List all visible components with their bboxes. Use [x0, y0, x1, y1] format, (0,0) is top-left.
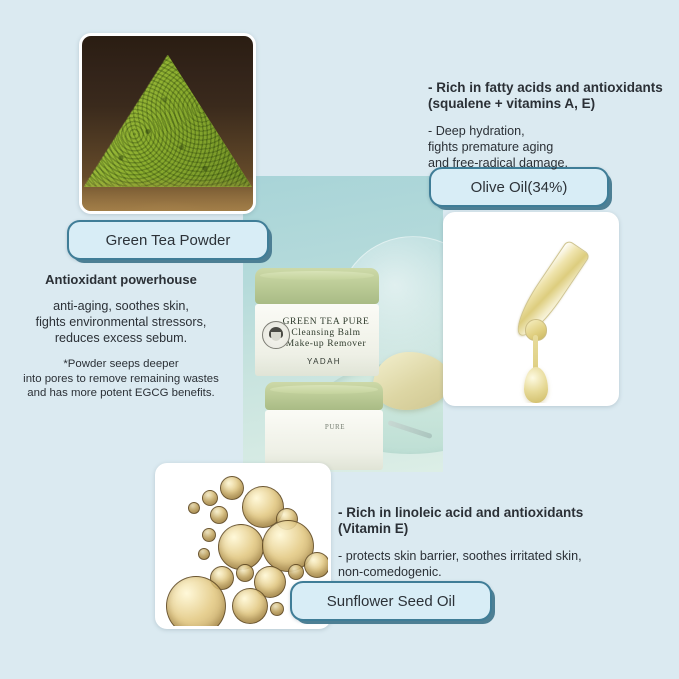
pill-sunflower-seed-oil[interactable]: Sunflower Seed Oil — [290, 581, 492, 621]
jar-lid — [265, 382, 383, 410]
jar-lid — [255, 268, 379, 304]
green-tea-note: *Powder seeps deeper into pores to remov… — [14, 357, 228, 400]
balm-scoop-shape — [373, 352, 443, 410]
jar-label: GREEN TEA PURE Cleansing Balm Make-up Re… — [255, 317, 379, 366]
pill-label: Green Tea Powder — [106, 232, 231, 249]
olive-oil-body: - Deep hydration, fights premature aging… — [428, 124, 676, 172]
pill-label: Sunflower Seed Oil — [327, 593, 455, 610]
pill-green-tea-powder[interactable]: Green Tea Powder — [67, 220, 269, 260]
product-jar-bottom: PURE — [265, 382, 383, 470]
infographic-canvas: GREEN TEA PURE Cleansing Balm Make-up Re… — [0, 0, 679, 679]
sunflower-oil-text-block: - Rich in linoleic acid and antioxidants… — [338, 505, 618, 581]
jar-title: PURE — [265, 423, 383, 431]
pill-label: Olive Oil(34%) — [471, 179, 568, 196]
olive-oil-heading: - Rich in fatty acids and antioxidants (… — [428, 80, 676, 113]
brand-emblem-icon — [262, 321, 290, 349]
jar-label: PURE — [265, 423, 383, 431]
pill-olive-oil[interactable]: Olive Oil(34%) — [429, 167, 609, 207]
jar-brand: YADAH — [255, 357, 379, 366]
green-tea-heading: Antioxidant powerhouse — [14, 272, 228, 288]
product-scene: GREEN TEA PURE Cleansing Balm Make-up Re… — [243, 176, 443, 472]
green-tea-powder-photo — [79, 33, 256, 214]
jar-body: PURE — [265, 410, 383, 470]
jar-body: GREEN TEA PURE Cleansing Balm Make-up Re… — [255, 304, 379, 376]
olive-oil-dropper-photo — [443, 212, 619, 406]
sunflower-oil-heading: - Rich in linoleic acid and antioxidants… — [338, 505, 618, 538]
sunflower-oil-body: - protects skin barrier, soothes irritat… — [338, 549, 618, 581]
olive-oil-text-block: - Rich in fatty acids and antioxidants (… — [428, 80, 676, 172]
product-jar-top: GREEN TEA PURE Cleansing Balm Make-up Re… — [255, 268, 379, 376]
green-tea-text-block: Antioxidant powerhouse anti-aging, sooth… — [14, 272, 228, 401]
green-tea-body: anti-aging, soothes skin, fights environ… — [14, 299, 228, 347]
